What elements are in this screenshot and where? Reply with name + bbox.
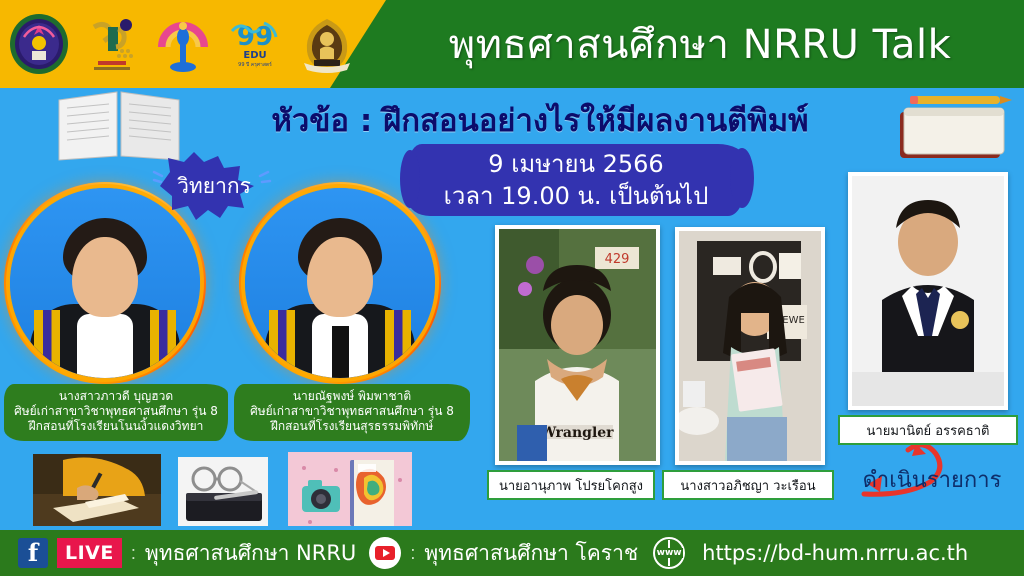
camera-and-colorful-notebook-photo	[288, 452, 412, 534]
topic-subtitle: หัวข้อ : ฝึกสอนอย่างไรให้มีผลงานตีพิมพ์	[170, 98, 910, 142]
lamp-of-education-logo-icon	[152, 13, 214, 75]
logo-row: 99 EDU 99 ปี ครุศาสตร์	[8, 12, 358, 76]
speaker-2-alumni: ศิษย์เก่าสาขาวิชาพุทธศาสนศึกษา รุ่น 8	[242, 404, 462, 419]
glasses-and-notebook-photo	[178, 457, 268, 533]
youtube-channel-name[interactable]: พุทธศาสนศึกษา โคราช	[424, 537, 638, 570]
event-time: เวลา 19.00 น. เป็นต้นไป	[400, 180, 752, 212]
participant-2-namebox: นางสาวอภิชญา วะเรือน	[662, 470, 834, 500]
speaker-caption-2: นายณัฐพงษ์ พิมพาชาติ ศิษย์เก่าสาขาวิชาพุ…	[234, 384, 470, 441]
facebook-icon[interactable]: f	[18, 538, 48, 568]
buddha-emblem-logo-icon	[296, 13, 358, 75]
event-date: 9 เมษายน 2566	[400, 148, 752, 180]
website-url[interactable]: https://bd-hum.nrru.ac.th	[702, 541, 968, 565]
page-title: พุทธศาสนศึกษา NRRU Talk	[390, 0, 1010, 88]
website-globe-icon[interactable]: www	[653, 537, 685, 569]
www-label: www	[656, 548, 683, 558]
moderator-role-label: ดำเนินรายการ	[848, 462, 1016, 496]
svg-text:EDU: EDU	[243, 50, 266, 61]
footer-bar: f LIVE : พุทธศาสนศึกษา NRRU : พุทธศาสนศึ…	[0, 530, 1024, 576]
nrru-university-seal-icon	[8, 13, 70, 75]
footer-separator-1: :	[131, 543, 136, 564]
live-badge: LIVE	[57, 538, 122, 568]
99-years-teacher-education-logo-icon: 99 EDU 99 ปี ครุศาสตร์	[224, 13, 286, 75]
schedule-block: 9 เมษายน 2566 เวลา 19.00 น. เป็นต้นไป	[400, 148, 752, 212]
header-bar: 99 EDU 99 ปี ครุศาสตร์ พุทธศาสนศึก	[0, 0, 1024, 88]
speaker-badge-label: วิทยากร	[150, 148, 278, 224]
participant-1-namebox: นายอานุภาพ โปรยโคกสูง	[487, 470, 655, 500]
svg-text:Wrangler: Wrangler	[539, 425, 614, 441]
participant-photo-2: LOEWE	[675, 227, 825, 465]
participant-photo-1: 429 Wrangler	[495, 225, 660, 465]
youtube-icon[interactable]	[369, 537, 401, 569]
writing-in-notebook-photo	[33, 454, 161, 534]
100-years-anniversary-logo-icon	[80, 13, 142, 75]
moderator-namebox: นายมานิตย์ อรรคธาติ	[838, 415, 1018, 445]
moderator-photo	[848, 172, 1008, 410]
speaker-2-school: ฝึกสอนที่โรงเรียนสุรธรรมพิทักษ์	[242, 419, 462, 434]
speaker-1-school: ฝึกสอนที่โรงเรียนโนนงิ้วแดงวิทยา	[12, 419, 220, 434]
facebook-page-name[interactable]: พุทธศาสนศึกษา NRRU	[145, 537, 356, 570]
svg-text:99 ปี ครุศาสตร์: 99 ปี ครุศาสตร์	[238, 61, 272, 68]
speaker-1-name: นางสาวภาวดี บุญฮวด	[12, 389, 220, 404]
speaker-1-alumni: ศิษย์เก่าสาขาวิชาพุทธศาสนศึกษา รุ่น 8	[12, 404, 220, 419]
speaker-caption-1: นางสาวภาวดี บุญฮวด ศิษย์เก่าสาขาวิชาพุทธ…	[4, 384, 228, 441]
svg-text:429: 429	[605, 252, 630, 267]
speaker-2-name: นายณัฐพงษ์ พิมพาชาติ	[242, 389, 462, 404]
poster-root: 99 EDU 99 ปี ครุศาสตร์ พุทธศาสนศึก	[0, 0, 1024, 576]
footer-separator-2: :	[410, 543, 415, 564]
